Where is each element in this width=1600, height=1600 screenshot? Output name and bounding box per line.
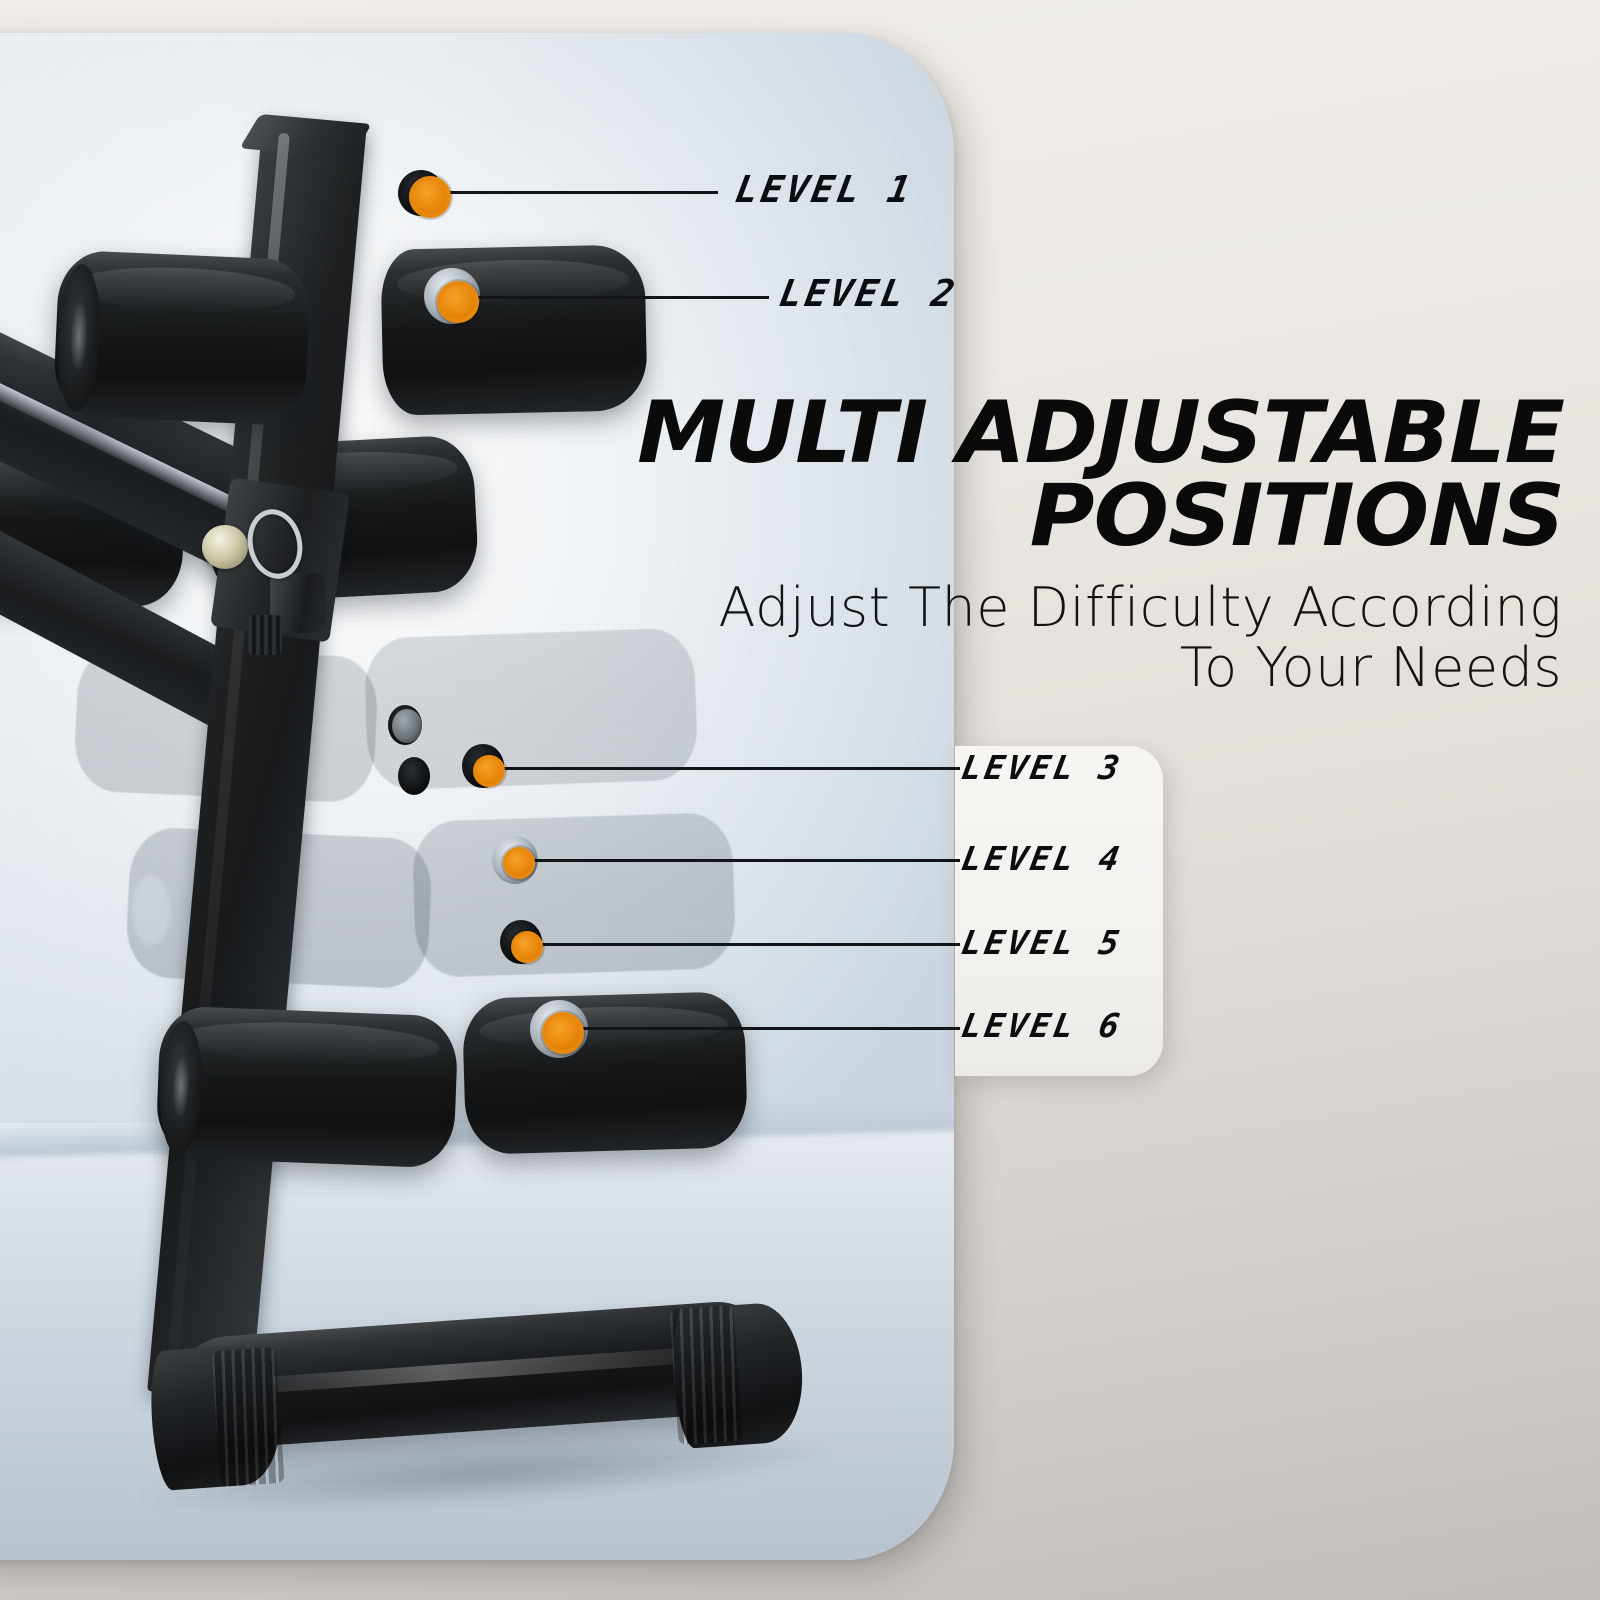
leader-line-level-5 (538, 943, 960, 946)
headline-block: MULTI ADJUSTABLE POSITIONS (554, 392, 1564, 557)
leader-line-level-2 (473, 296, 769, 299)
base-endcap-right-ridges (669, 1305, 742, 1445)
locking-knob-ridges (248, 615, 282, 655)
marker-level-4[interactable] (503, 847, 535, 879)
roller-pad-top-right (380, 244, 647, 415)
leader-line-level-1 (446, 191, 718, 194)
headline-line-1: MULTI ADJUSTABLE (524, 392, 1564, 475)
subtitle-text: Adjust The Difficulty According To Your … (702, 578, 1562, 699)
marker-level-5[interactable] (511, 931, 543, 963)
marker-level-1[interactable] (409, 176, 451, 218)
marker-level-2[interactable] (437, 281, 479, 323)
label-level-1: LEVEL 1 (732, 168, 917, 211)
bench-illustration (0, 33, 954, 1560)
label-level-4: LEVEL 4 (959, 839, 1126, 878)
roller-pad-bottom-right (462, 991, 748, 1155)
base-endcap-left-ridges (211, 1347, 284, 1487)
headline-line-2: POSITIONS (524, 475, 1564, 558)
leader-line-level-3 (500, 767, 960, 770)
post-pin-bump (392, 709, 422, 743)
product-photo-card (0, 33, 954, 1560)
marker-level-6[interactable] (542, 1012, 584, 1054)
label-level-2: LEVEL 2 (776, 272, 961, 315)
post-hole-lower (398, 757, 430, 795)
marker-level-3[interactable] (473, 755, 505, 787)
label-level-5: LEVEL 5 (959, 923, 1126, 962)
leader-line-level-6 (578, 1027, 960, 1030)
leader-line-level-4 (530, 859, 960, 862)
label-level-6: LEVEL 6 (959, 1006, 1126, 1045)
label-level-3: LEVEL 3 (959, 748, 1126, 787)
hex-bolt-icon (202, 525, 248, 569)
ghost-pad-endcap (132, 875, 170, 945)
ghost-pad-lower-right (412, 812, 737, 978)
